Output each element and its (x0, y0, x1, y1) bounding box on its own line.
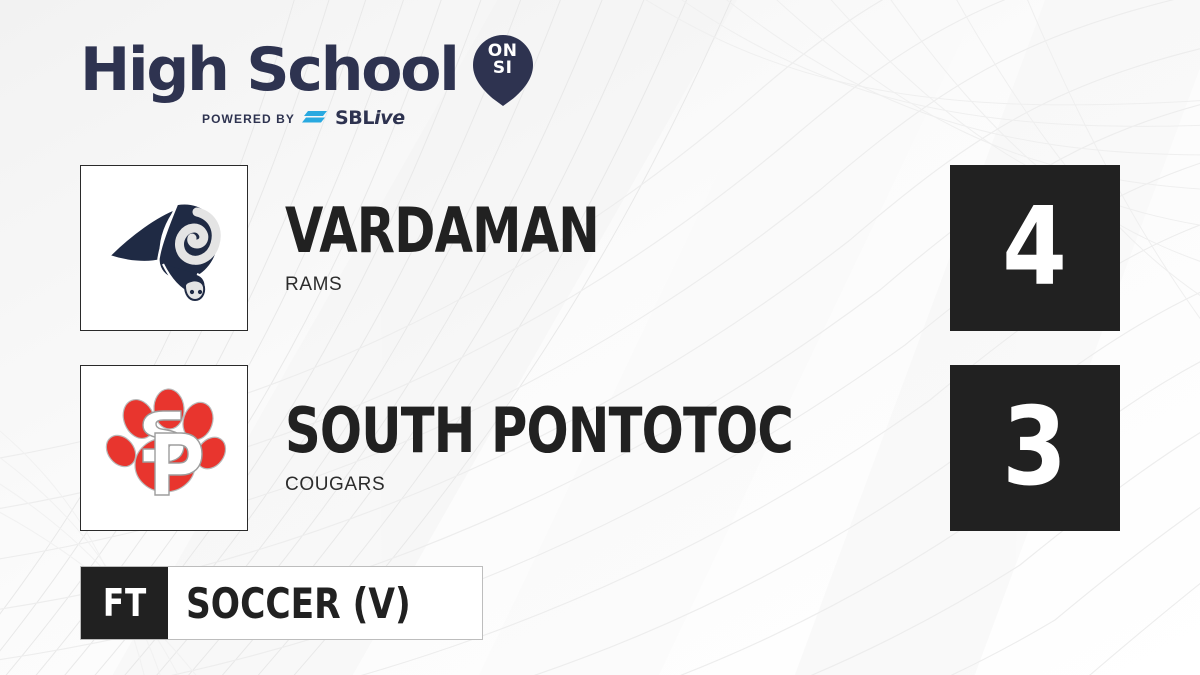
rams-head-logo (99, 188, 229, 308)
map-pin-icon: ON SI (472, 33, 534, 107)
sblive-s-icon (302, 110, 328, 128)
partner-wordmark: SBLive (335, 109, 405, 128)
badge-line-si: SI (472, 60, 534, 77)
game-status-bar: FT SOCCER (V) (80, 566, 483, 640)
status-sport-block: SOCCER (V) (168, 567, 482, 639)
team-score: 3 (1003, 394, 1068, 502)
team-score: 4 (1003, 194, 1068, 302)
logo-row: High School ON SI (80, 34, 510, 106)
brand-title: High School (80, 36, 458, 104)
team-logo-box[interactable] (80, 165, 248, 331)
team-score-box: 3 (950, 365, 1120, 531)
onsi-badge-text: ON SI (472, 43, 534, 77)
cougar-paw-sp-logo (99, 385, 229, 511)
site-logo[interactable]: High School ON SI POWERED BY SBLive (80, 34, 510, 134)
status-period-block: FT (81, 567, 168, 639)
team-name: VARDAMAN (285, 200, 599, 262)
team-text: SOUTH PONTOTOC COUGARS (285, 365, 920, 531)
team-row: SOUTH PONTOTOC COUGARS 3 (0, 365, 1200, 531)
status-period-label: FT (102, 581, 146, 625)
status-sport-label: SOCCER (V) (186, 579, 411, 628)
team-mascot: COUGARS (285, 474, 920, 496)
powered-by-label: POWERED BY (202, 112, 295, 126)
team-mascot: RAMS (285, 274, 678, 296)
partner-name-italic: ive (374, 107, 405, 129)
team-name: SOUTH PONTOTOC (285, 400, 793, 462)
team-text: VARDAMAN RAMS (285, 165, 678, 331)
team-logo-box[interactable] (80, 365, 248, 531)
team-row: VARDAMAN RAMS 4 (0, 165, 1200, 331)
team-score-box: 4 (950, 165, 1120, 331)
powered-by-row: POWERED BY SBLive (80, 109, 510, 128)
partner-name-bold: SBL (335, 107, 374, 129)
